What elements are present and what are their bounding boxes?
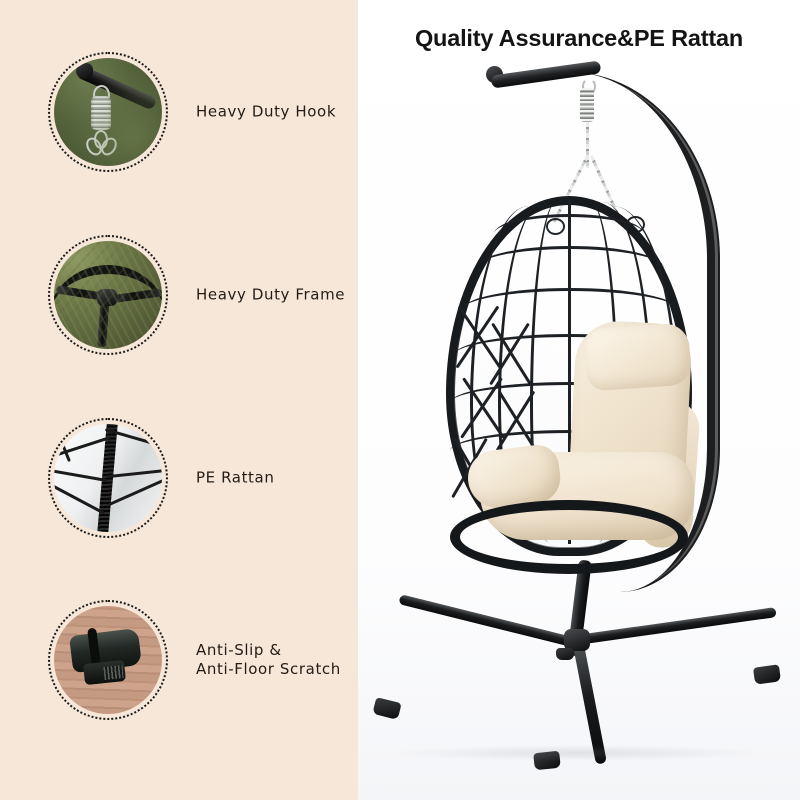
foot-grip-ridges — [103, 665, 124, 680]
feature-photo-frame — [48, 235, 168, 355]
feature-item-pe-rattan[interactable]: PE Rattan — [0, 418, 358, 538]
feature-photo-foot-cap — [48, 600, 168, 720]
frame-leg-center — [98, 295, 111, 347]
hanging-egg-chair-image — [358, 0, 800, 800]
feature-label-heavy-duty-hook: Heavy Duty Hook — [196, 103, 336, 122]
spring-icon — [580, 88, 594, 122]
feature-label-anti-slip: Anti-Slip & Anti-Floor Scratch — [196, 641, 341, 679]
head-pillow — [584, 322, 692, 391]
product-infographic: Heavy Duty Hook Heavy Duty Frame — [0, 0, 800, 800]
frame-joint-icon — [54, 241, 162, 349]
basket-hoop — [476, 246, 664, 290]
feature-photo-rattan — [48, 418, 168, 538]
feature-label-pe-rattan: PE Rattan — [196, 469, 274, 488]
base-leg-right — [569, 607, 776, 646]
rattan-strand — [108, 479, 162, 506]
frame-arc — [54, 265, 162, 322]
product-panel: Quality Assurance&PE Rattan — [358, 0, 800, 800]
spring-icon — [91, 96, 111, 130]
rattan-strand — [54, 483, 105, 515]
foot-cap-right — [753, 664, 781, 684]
hook-bar-cap — [76, 63, 93, 79]
feature-photo-hook — [48, 52, 168, 172]
frame-leg-left — [56, 285, 104, 300]
frame-joint-blob — [97, 289, 117, 306]
foot-cap-left — [372, 697, 401, 720]
hook-bar — [75, 65, 157, 111]
feature-label-heavy-duty-frame: Heavy Duty Frame — [196, 286, 345, 305]
chain-link — [94, 130, 108, 149]
frame-leg-right — [108, 288, 162, 303]
feature-item-heavy-duty-frame[interactable]: Heavy Duty Frame — [0, 235, 358, 355]
chain-link — [98, 135, 120, 159]
foot-cap-icon — [54, 606, 162, 714]
feature-item-heavy-duty-hook[interactable]: Heavy Duty Hook — [0, 52, 358, 172]
feature-item-anti-slip[interactable]: Anti-Slip & Anti-Floor Scratch — [0, 600, 358, 720]
rattan-weave-icon — [54, 424, 162, 532]
rattan-strand — [106, 468, 162, 478]
basket-bottom-rim — [450, 500, 688, 574]
floor-shadow — [388, 745, 768, 761]
chain-link — [83, 135, 105, 159]
features-panel: Heavy Duty Hook Heavy Duty Frame — [0, 0, 358, 800]
base-leg-left — [398, 594, 585, 650]
rattan-strand — [54, 468, 108, 481]
hook-spring-icon — [54, 58, 162, 166]
foot-cap-rear — [556, 648, 574, 660]
hook-eye-icon — [93, 85, 110, 105]
